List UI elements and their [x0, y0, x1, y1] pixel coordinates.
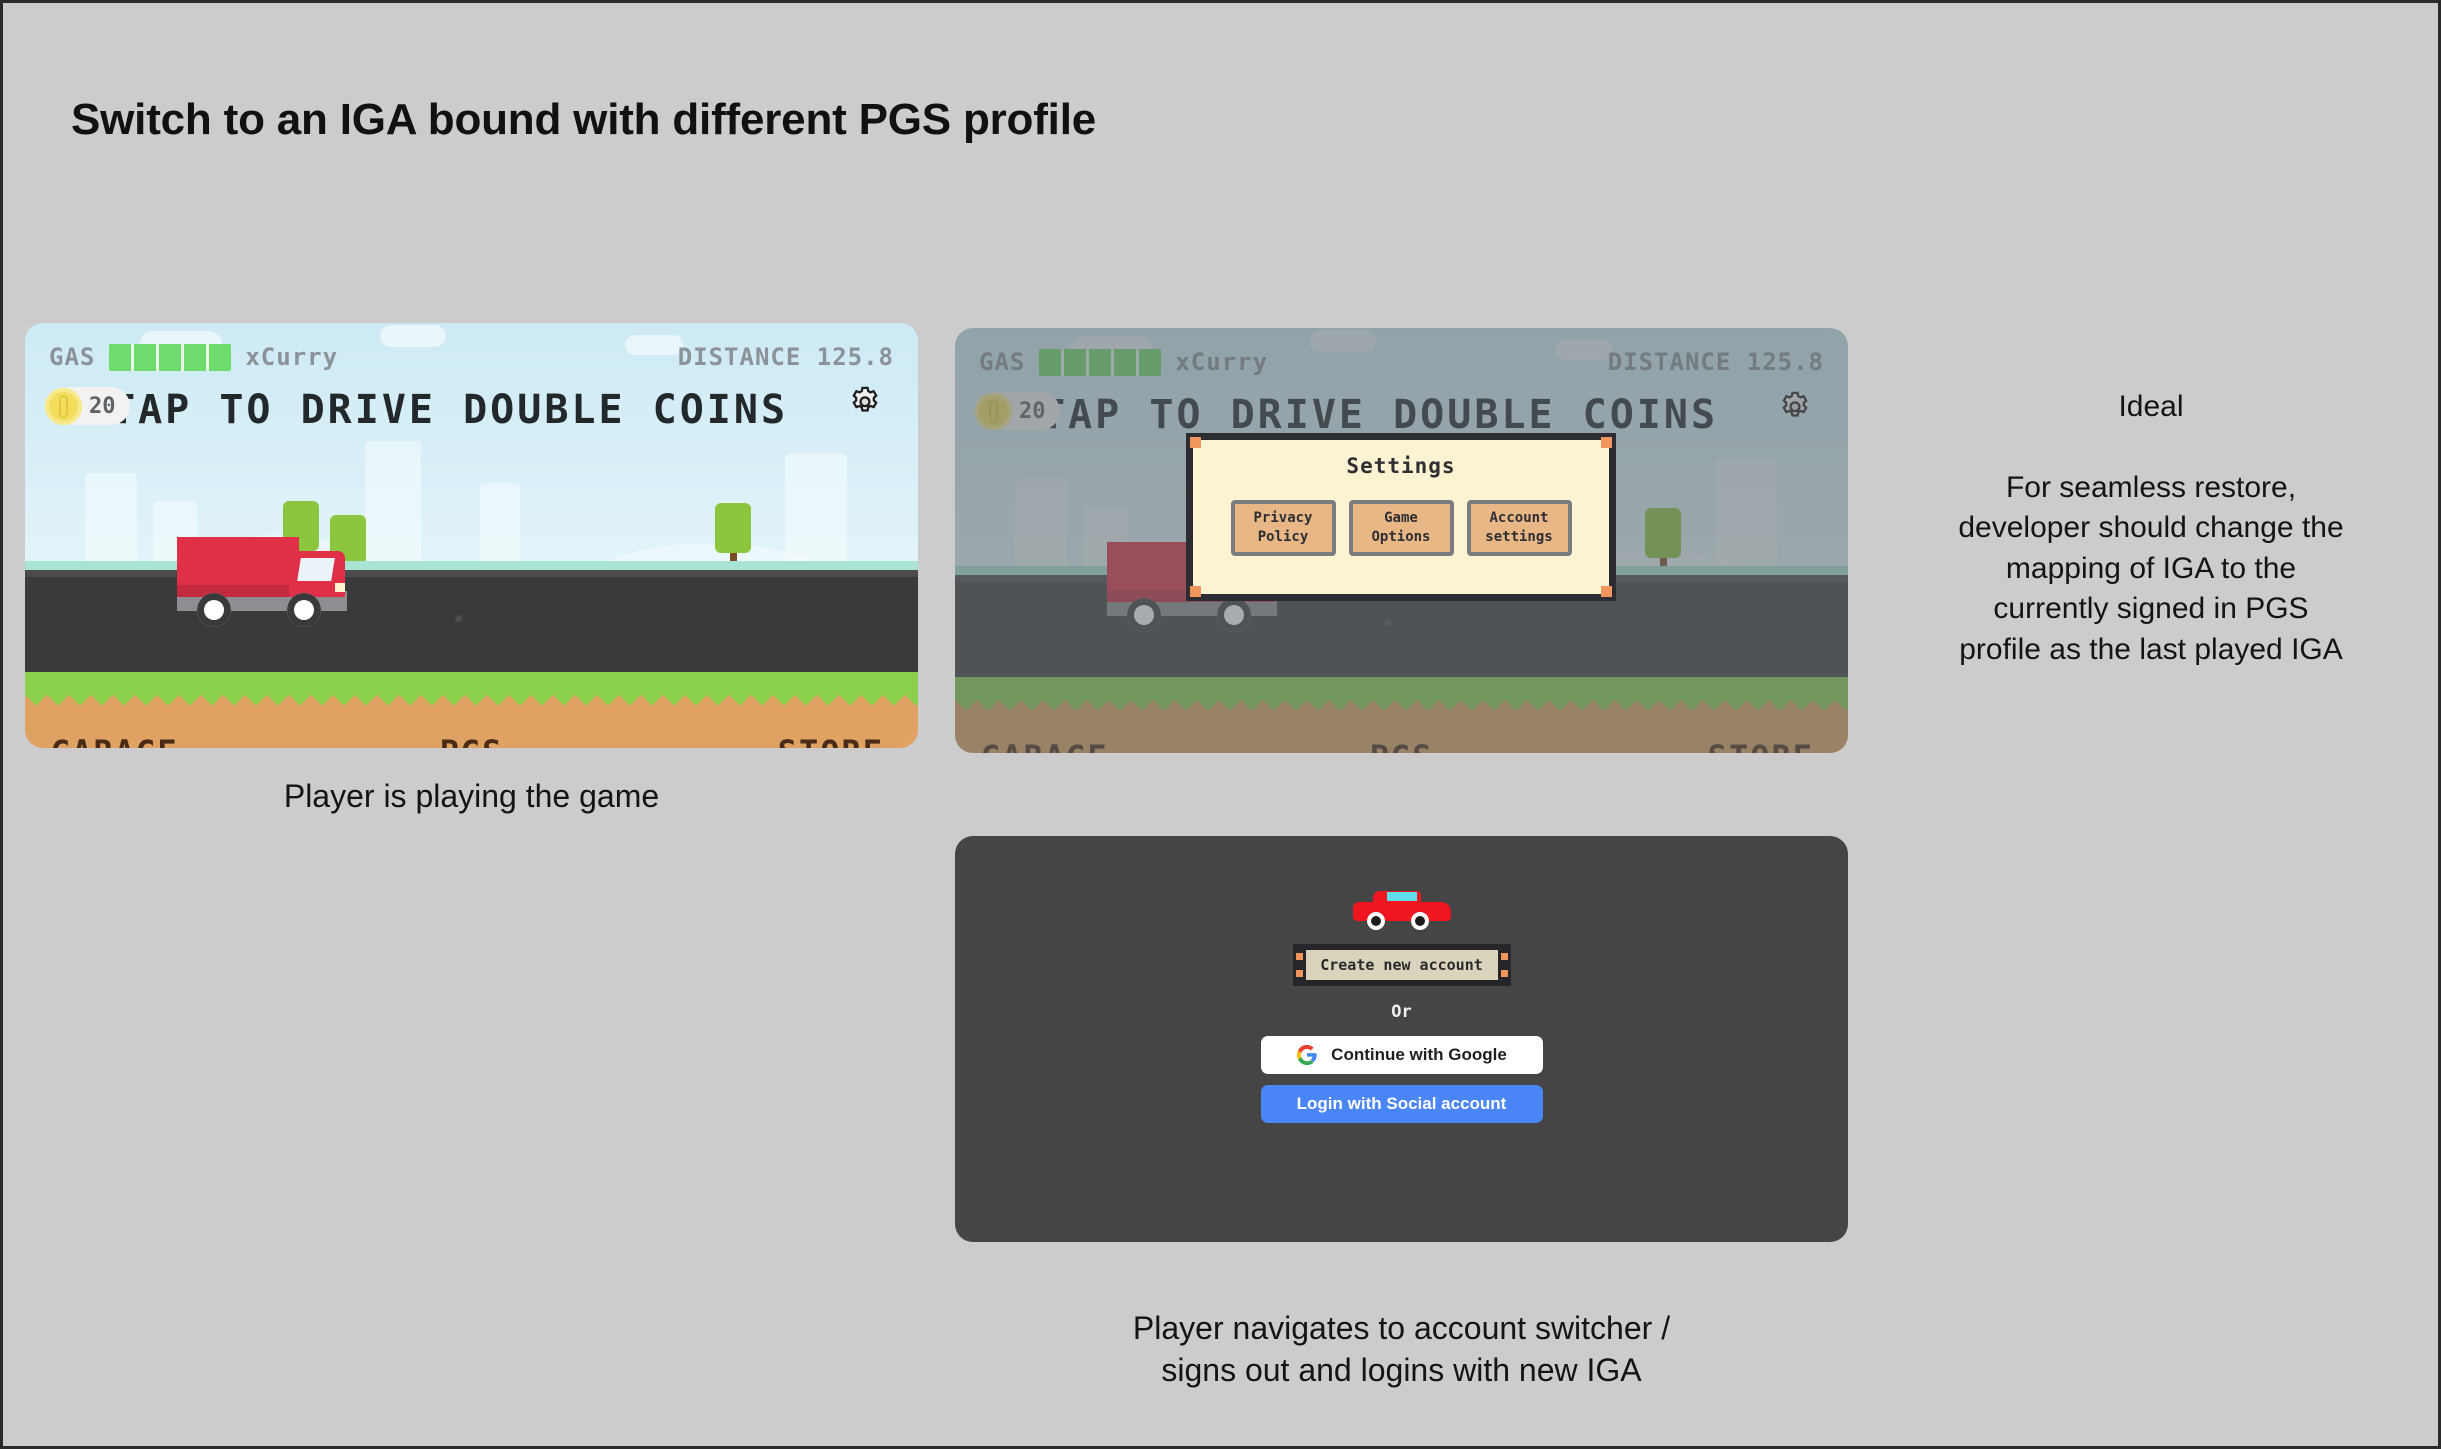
ideal-heading: Ideal — [1881, 387, 2421, 428]
distance-readout: DISTANCE 125.8 — [678, 343, 894, 371]
sports-car-sprite — [1353, 886, 1451, 928]
player-name: xCurry — [245, 343, 338, 371]
or-divider-label: Or — [1391, 1002, 1411, 1022]
create-new-account-button[interactable]: Create new account — [1306, 944, 1498, 986]
settings-button-row: Privacy Policy Game Options Account sett… — [1193, 500, 1609, 556]
privacy-policy-button[interactable]: Privacy Policy — [1231, 500, 1336, 556]
ideal-note: Ideal For seamless restore, developer sh… — [1881, 346, 2421, 711]
page-title: Switch to an IGA bound with different PG… — [71, 95, 1096, 145]
dialog-corner-pixel — [1601, 437, 1612, 448]
coin-icon — [45, 388, 82, 425]
login-with-social-account-label: Login with Social account — [1297, 1094, 1507, 1114]
create-new-account-label: Create new account — [1320, 956, 1483, 974]
continue-with-google-button[interactable]: Continue with Google — [1261, 1036, 1543, 1074]
hud-top-row: GAS xCurry DISTANCE 125.8 — [49, 343, 894, 371]
dialog-corner-pixel — [1190, 586, 1201, 597]
caption-panel-3: Player navigates to account switcher / s… — [955, 1308, 1848, 1391]
login-with-social-account-button[interactable]: Login with Social account — [1261, 1085, 1543, 1123]
settings-dialog-title: Settings — [1193, 454, 1609, 478]
dialog-corner-pixel — [1601, 586, 1612, 597]
gas-meter — [109, 344, 231, 371]
nav-store-button[interactable]: STORE — [778, 733, 884, 748]
tap-to-drive-text: TAP TO DRIVE DOUBLE COINS — [111, 385, 788, 435]
account-settings-button[interactable]: Account settings — [1467, 500, 1572, 556]
gear-icon[interactable] — [848, 385, 882, 419]
caption-panel-1: Player is playing the game — [25, 776, 918, 818]
account-switcher-screen[interactable]: Create new account Or Continue with Goog… — [955, 836, 1848, 1242]
google-icon — [1296, 1044, 1318, 1066]
bottom-nav-bar: GARAGE PGS STORE ✦ — [25, 695, 918, 748]
dirt-zigzag-edge — [25, 695, 918, 717]
ideal-body: For seamless restore, developer should c… — [1881, 468, 2421, 671]
gas-label: GAS — [49, 343, 95, 371]
road — [25, 570, 918, 672]
dialog-corner-pixel — [1190, 437, 1201, 448]
settings-dialog: Settings Privacy Policy Game Options Acc… — [1186, 433, 1616, 601]
game-options-button[interactable]: Game Options — [1349, 500, 1454, 556]
truck-sprite — [177, 531, 355, 627]
continue-with-google-label: Continue with Google — [1331, 1045, 1507, 1065]
game-screen-playing[interactable]: GARAGE PGS STORE ✦ GAS xCurry DISTANCE 1… — [25, 323, 918, 748]
coin-badge[interactable]: 20 — [45, 387, 130, 425]
